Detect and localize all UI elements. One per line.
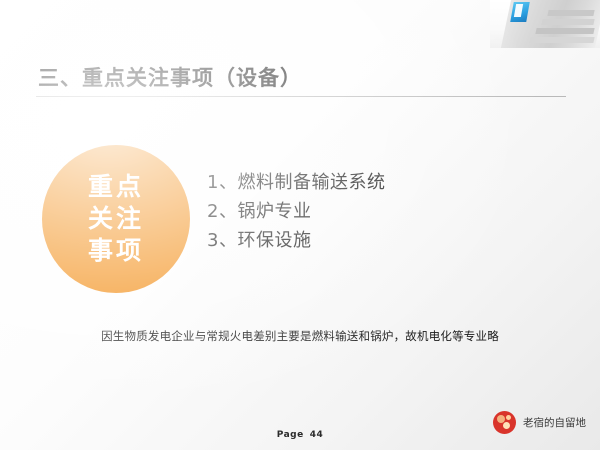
bullet-list: 1、燃料制备输送系统 2、锅炉专业 3、环保设施 <box>207 168 537 255</box>
slide-canvas: 三、重点关注事项（设备） 重点 关注 事项 1、燃料制备输送系统 2、锅炉专业 … <box>0 0 600 450</box>
highlight-circle-line-2: 关注 <box>88 203 144 235</box>
wechat-account-logo-icon <box>493 411 516 434</box>
watermark: 老宿的自留地 <box>493 411 586 434</box>
page-number-value: 44 <box>310 430 324 440</box>
footnote-text: 因生物质发电企业与常规火电差别主要是燃料输送和锅炉，故机电化等专业略 <box>0 328 600 344</box>
page-title: 三、重点关注事项（设备） <box>38 62 302 92</box>
photo-step <box>541 19 594 25</box>
highlight-circle-line-3: 事项 <box>88 235 144 267</box>
photo-step <box>535 28 594 34</box>
list-item: 2、锅炉专业 <box>207 197 537 226</box>
logo-dot <box>506 415 511 420</box>
highlight-circle: 重点 关注 事项 <box>42 145 190 293</box>
logo-dot <box>503 422 510 429</box>
photo-step <box>529 37 594 43</box>
title-divider <box>36 96 566 97</box>
list-item: 3、环保设施 <box>207 226 537 255</box>
list-item: 1、燃料制备输送系统 <box>207 168 537 197</box>
highlight-circle-line-1: 重点 <box>88 171 144 203</box>
page-number-label: Page <box>277 430 304 440</box>
watermark-text: 老宿的自留地 <box>523 415 586 430</box>
stairs-photo-thumbnail-icon <box>490 0 600 48</box>
photo-step <box>547 10 594 16</box>
